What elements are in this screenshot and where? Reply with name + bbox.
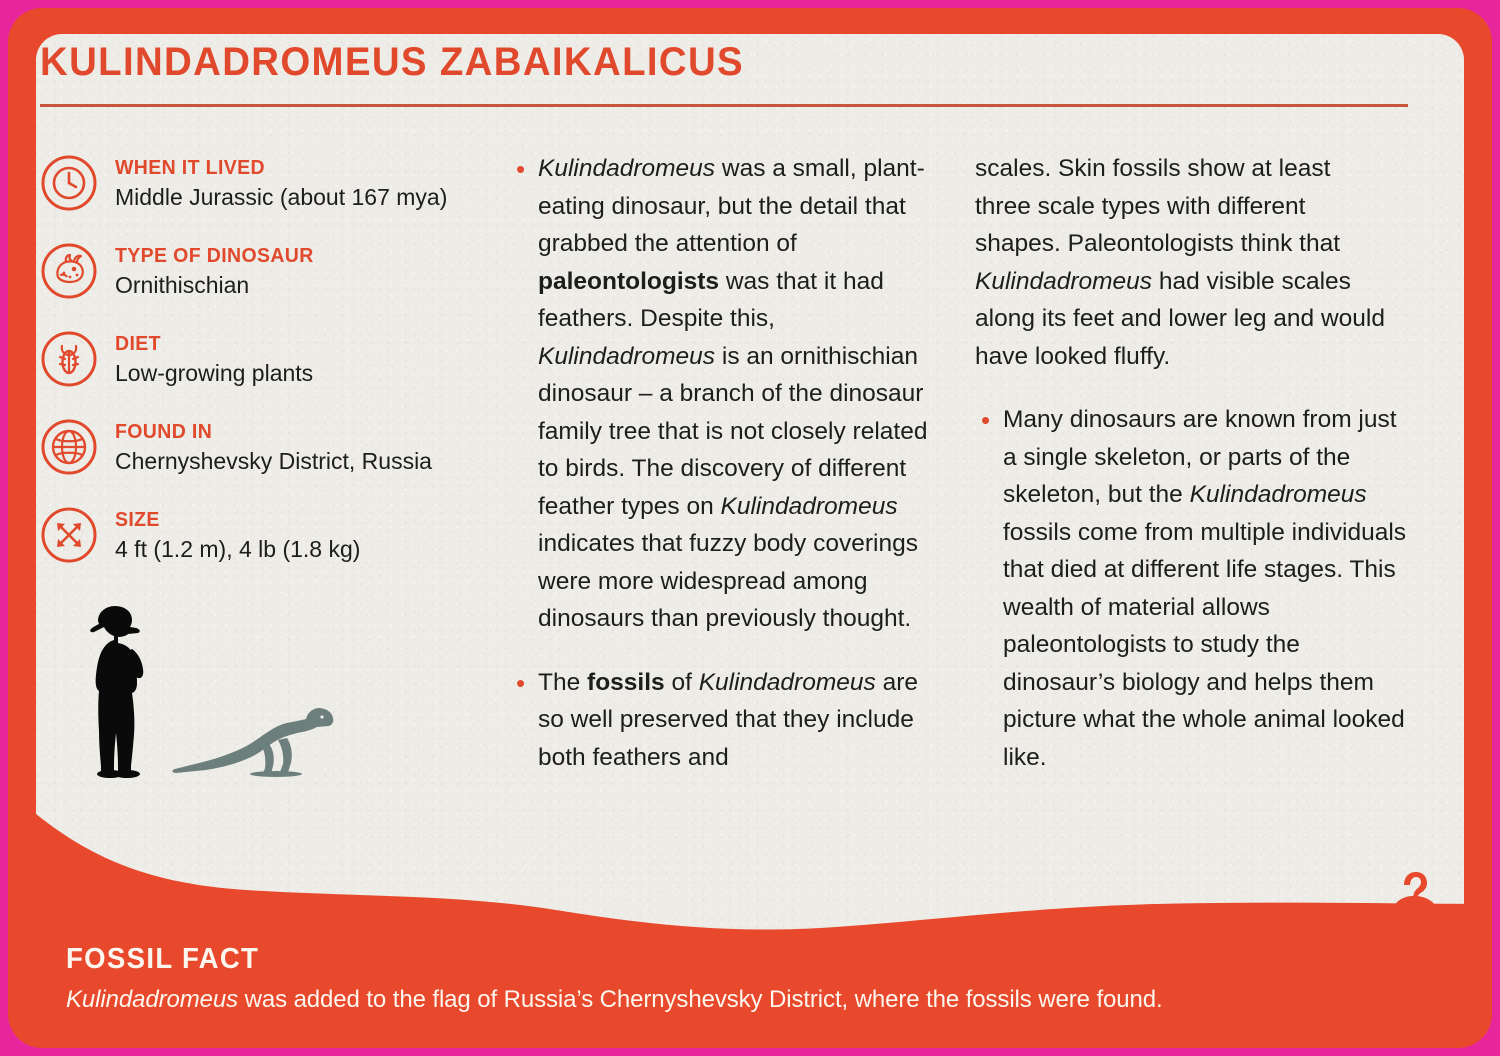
bullet-text: The fossils of Kulindadromeus are so wel…	[538, 664, 948, 777]
bullet-text: Kulindadromeus was a small, plant-eating…	[538, 150, 948, 638]
stat-value: Middle Jurassic (about 167 mya)	[115, 183, 447, 213]
stat-value: 4 ft (1.2 m), 4 lb (1.8 kg)	[115, 535, 360, 565]
kulindadromeus-silhouette	[170, 698, 345, 778]
sauropod-dinosaur-logo	[1382, 868, 1452, 940]
stat-when-it-lived: WHEN IT LIVED Middle Jurassic (about 167…	[40, 152, 510, 213]
bullet-dot-icon: •	[510, 150, 538, 638]
bullet-item: • The fossils of Kulindadromeus are so w…	[510, 664, 975, 777]
stat-label: SIZE	[115, 508, 348, 532]
footer-text: Kulindadromeus was added to the flag of …	[66, 986, 1446, 1014]
text-column-right: scales. Skin fossils show at least three…	[975, 148, 1440, 802]
bullet-item: • Many dinosaurs are known from just a s…	[975, 401, 1440, 776]
stat-size: SIZE 4 ft (1.2 m), 4 lb (1.8 kg)	[40, 504, 510, 565]
bullet-item: • Kulindadromeus was a small, plant-eati…	[510, 150, 975, 638]
stat-found-in: FOUND IN Chernyshevsky District, Russia	[40, 416, 510, 477]
stats-sidebar: WHEN IT LIVED Middle Jurassic (about 167…	[40, 148, 510, 802]
scale-comparison	[52, 598, 472, 778]
title-block: KULINDADROMEUS ZABAIKALICUS	[40, 40, 1408, 107]
stat-label: FOUND IN	[115, 420, 416, 444]
fact-card: KULINDADROMEUS ZABAIKALICUS	[8, 8, 1492, 1048]
human-silhouette	[70, 603, 165, 778]
card-content: WHEN IT LIVED Middle Jurassic (about 167…	[40, 148, 1440, 802]
bullet-text: Many dinosaurs are known from just a sin…	[1003, 401, 1413, 776]
title-divider	[40, 104, 1408, 107]
stat-label: WHEN IT LIVED	[115, 156, 431, 180]
stat-type-of-dinosaur: TYPE OF DINOSAUR Ornithischian	[40, 240, 510, 301]
size-arrows-icon	[40, 506, 98, 564]
bullet-dot-icon: •	[975, 401, 1003, 776]
text-column-middle: • Kulindadromeus was a small, plant-eati…	[510, 148, 975, 802]
bullet-text-continuation: scales. Skin fossils show at least three…	[975, 150, 1385, 375]
stat-label: TYPE OF DINOSAUR	[115, 244, 314, 268]
stat-value: Low-growing plants	[115, 359, 313, 389]
plant-icon	[40, 330, 98, 388]
footer-title: FOSSIL FACT	[66, 943, 1377, 976]
bullet-dot-icon: •	[510, 664, 538, 777]
clock-icon	[40, 154, 98, 212]
card-frame: KULINDADROMEUS ZABAIKALICUS	[0, 0, 1500, 1056]
stat-label: DIET	[115, 332, 303, 356]
stat-value: Chernyshevsky District, Russia	[115, 447, 432, 477]
dinosaur-head-icon	[40, 242, 98, 300]
globe-icon	[40, 418, 98, 476]
stat-diet: DIET Low-growing plants	[40, 328, 510, 389]
stat-value: Ornithischian	[115, 271, 324, 301]
page-title: KULINDADROMEUS ZABAIKALICUS	[40, 40, 1353, 85]
fossil-fact-footer: FOSSIL FACT Kulindadromeus was added to …	[66, 943, 1446, 1014]
